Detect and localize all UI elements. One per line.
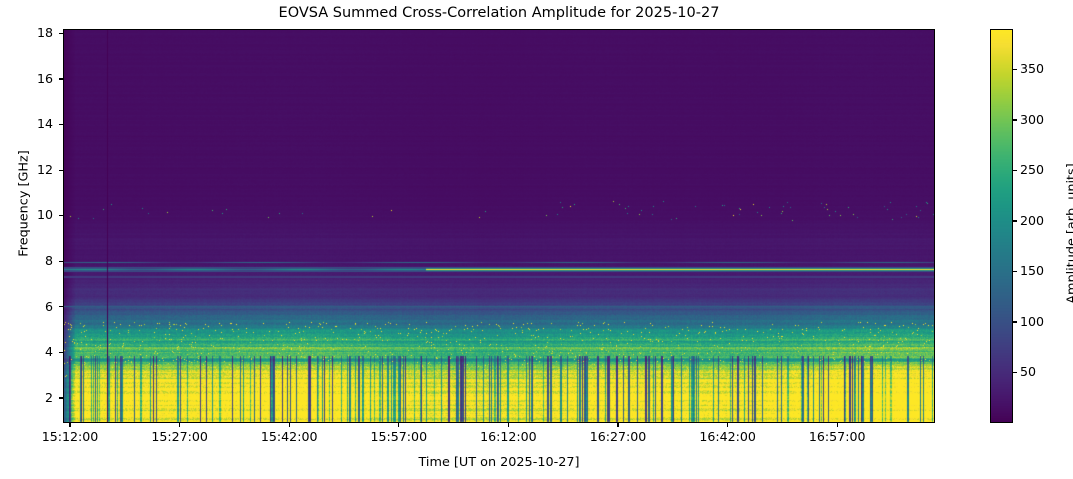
colorbar-tick-label: 200 xyxy=(1020,215,1064,228)
figure-canvas: EOVSA Summed Cross-Correlation Amplitude… xyxy=(0,0,1073,479)
y-tick-mark xyxy=(59,124,63,125)
colorbar-tick-mark xyxy=(1013,372,1017,373)
page-title: EOVSA Summed Cross-Correlation Amplitude… xyxy=(63,4,935,22)
x-tick-label: 15:27:00 xyxy=(130,431,230,444)
x-tick-label: 15:57:00 xyxy=(349,431,449,444)
y-tick-mark xyxy=(59,33,63,34)
colorbar-tick-label: 250 xyxy=(1020,164,1064,177)
x-tick-label: 15:42:00 xyxy=(239,431,339,444)
y-tick-mark xyxy=(59,352,63,353)
colorbar[interactable] xyxy=(990,29,1013,423)
y-tick-label: 4 xyxy=(9,346,53,359)
x-tick-mark xyxy=(727,423,728,427)
y-tick-mark xyxy=(59,261,63,262)
x-tick-mark xyxy=(837,423,838,427)
x-tick-label: 16:27:00 xyxy=(568,431,668,444)
colorbar-tick-mark xyxy=(1013,119,1017,120)
x-tick-mark xyxy=(69,423,70,427)
colorbar-tick-mark xyxy=(1013,271,1017,272)
colorbar-tick-mark xyxy=(1013,69,1017,70)
colorbar-tick-mark xyxy=(1013,220,1017,221)
colorbar-tick-mark xyxy=(1013,170,1017,171)
colorbar-tick-label: 100 xyxy=(1020,316,1064,329)
x-tick-label: 16:42:00 xyxy=(678,431,778,444)
spectrogram-image xyxy=(64,30,935,423)
x-tick-label: 16:12:00 xyxy=(458,431,558,444)
colorbar-tick-label: 50 xyxy=(1020,366,1064,379)
y-tick-label: 2 xyxy=(9,392,53,405)
colorbar-tick-label: 150 xyxy=(1020,265,1064,278)
colorbar-gradient xyxy=(991,30,1013,423)
y-tick-label: 18 xyxy=(9,27,53,40)
colorbar-tick-label: 350 xyxy=(1020,63,1064,76)
colorbar-label: Amplitude [arb. units] xyxy=(1065,114,1073,354)
x-axis-label: Time [UT on 2025-10-27] xyxy=(63,455,935,470)
colorbar-tick-mark xyxy=(1013,321,1017,322)
x-tick-mark xyxy=(289,423,290,427)
y-tick-mark xyxy=(59,306,63,307)
y-tick-mark xyxy=(59,215,63,216)
x-tick-mark xyxy=(398,423,399,427)
x-tick-mark xyxy=(617,423,618,427)
x-tick-label: 16:57:00 xyxy=(787,431,887,444)
y-tick-mark xyxy=(59,78,63,79)
y-axis-label: Frequency [GHz] xyxy=(17,84,32,324)
y-tick-mark xyxy=(59,397,63,398)
x-tick-label: 15:12:00 xyxy=(20,431,120,444)
y-tick-mark xyxy=(59,170,63,171)
x-tick-mark xyxy=(179,423,180,427)
spectrogram-axes[interactable] xyxy=(63,29,935,423)
x-tick-mark xyxy=(508,423,509,427)
colorbar-tick-label: 300 xyxy=(1020,114,1064,127)
